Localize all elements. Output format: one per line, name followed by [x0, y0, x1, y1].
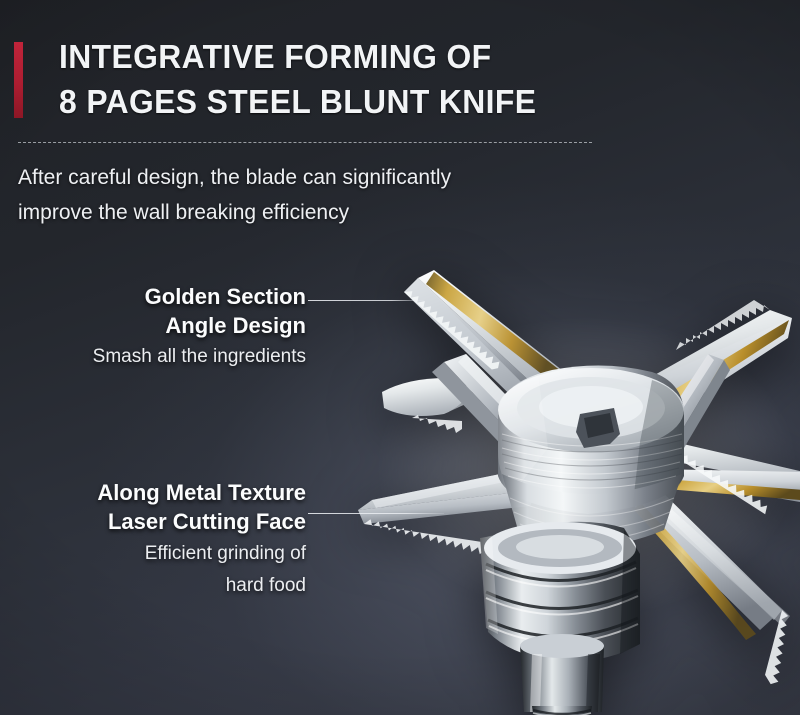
subtitle-line-2: improve the wall breaking efficiency — [18, 195, 451, 230]
title-line-1: INTEGRATIVE FORMING OF — [59, 34, 536, 79]
page-title: INTEGRATIVE FORMING OF 8 PAGES STEEL BLU… — [59, 34, 554, 124]
shaft — [520, 634, 604, 712]
callout-laser-heading-2: Laser Cutting Face — [0, 507, 306, 536]
product-feature-banner: INTEGRATIVE FORMING OF 8 PAGES STEEL BLU… — [0, 0, 800, 715]
title-line-2: 8 PAGES STEEL BLUNT KNIFE — [59, 79, 536, 124]
title-accent-bar — [14, 42, 23, 118]
header-divider — [18, 142, 592, 143]
callout-laser-heading-1: Along Metal Texture — [0, 478, 306, 507]
callout-laser-sub-1: Efficient grinding of — [0, 539, 306, 568]
product-image-blade-assembly — [352, 262, 800, 715]
leader-line-golden-section — [308, 300, 424, 301]
callout-golden-sub-1: Smash all the ingredients — [0, 342, 306, 371]
callout-golden-section: Golden Section Angle Design Smash all th… — [0, 282, 306, 371]
callout-laser-cutting: Along Metal Texture Laser Cutting Face E… — [0, 478, 306, 600]
page-subtitle: After careful design, the blade can sign… — [18, 160, 451, 230]
callout-laser-sub-2: hard food — [0, 571, 306, 600]
subtitle-line-1: After careful design, the blade can sign… — [18, 160, 451, 195]
callout-golden-heading-2: Angle Design — [0, 311, 306, 340]
shaft-threaded-tip — [532, 706, 592, 715]
callout-golden-heading-1: Golden Section — [0, 282, 306, 311]
leader-line-laser-cutting — [308, 513, 444, 514]
